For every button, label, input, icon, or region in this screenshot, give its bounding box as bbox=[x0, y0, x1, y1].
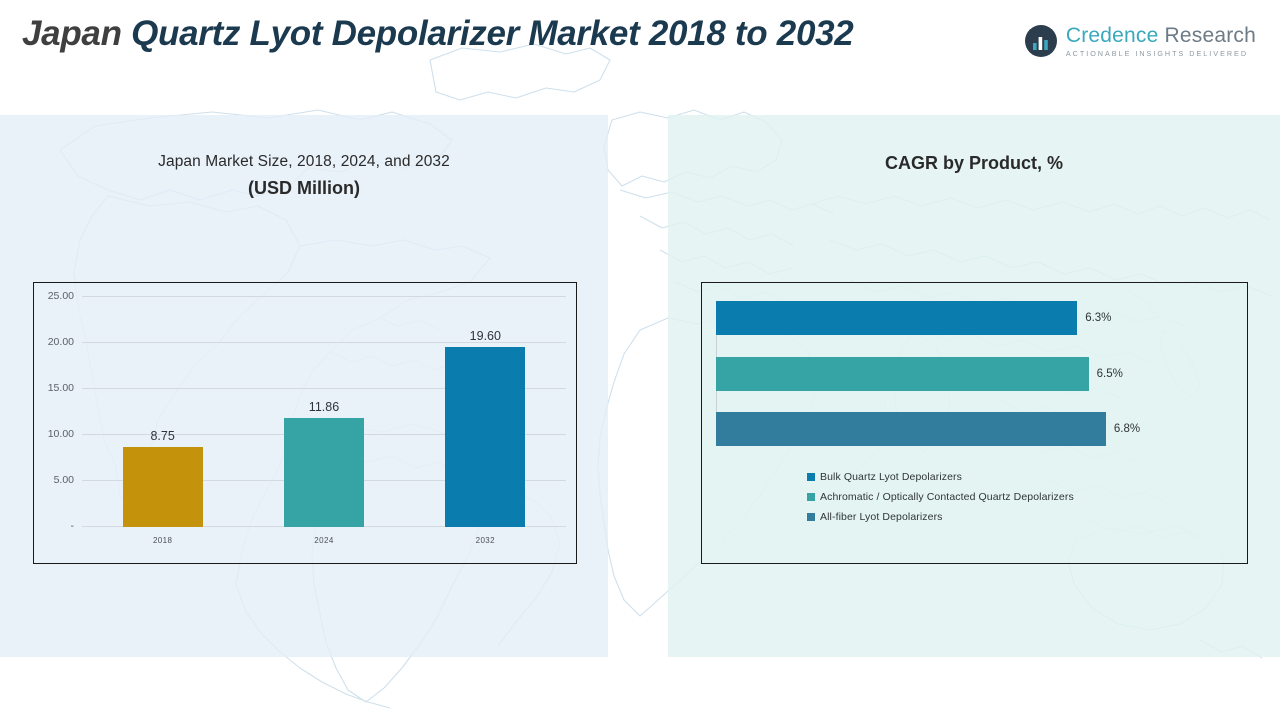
legend-item[interactable]: Bulk Quartz Lyot Depolarizers bbox=[807, 471, 1074, 483]
cagr-bar-row: 6.8% bbox=[716, 412, 1235, 446]
bar-chart-circle-icon bbox=[1024, 24, 1058, 58]
cagr-bar[interactable] bbox=[716, 301, 1077, 335]
y-axis-tick-label: 15.00 bbox=[48, 382, 74, 394]
market-size-heading-line1: Japan Market Size, 2018, 2024, and 2032 bbox=[0, 153, 608, 171]
cagr-bar-row: 6.3% bbox=[716, 301, 1235, 335]
x-axis-category-label: 2024 bbox=[314, 536, 333, 545]
column-bar[interactable] bbox=[445, 347, 525, 527]
y-axis-tick-label: 5.00 bbox=[54, 474, 74, 486]
logo-name-secondary: Research bbox=[1158, 24, 1256, 47]
cagr-panel: CAGR by Product, % 6.3%6.5%6.8% Bulk Qua… bbox=[668, 115, 1280, 657]
y-axis-tick-label: 25.00 bbox=[48, 290, 74, 302]
market-size-heading-line2: (USD Million) bbox=[0, 178, 608, 199]
legend-item-label: Bulk Quartz Lyot Depolarizers bbox=[820, 471, 962, 483]
legend-item[interactable]: All-fiber Lyot Depolarizers bbox=[807, 511, 1074, 523]
cagr-chart-legend: Bulk Quartz Lyot DepolarizersAchromatic … bbox=[807, 471, 1074, 531]
cagr-bar-value-label: 6.3% bbox=[1085, 312, 1111, 324]
column-bar-group: 19.602032 bbox=[445, 297, 525, 527]
brand-logo[interactable]: Credence Research Actionable Insights De… bbox=[1024, 24, 1256, 58]
column-bar-value-label: 8.75 bbox=[150, 429, 174, 443]
logo-name: Credence Research bbox=[1066, 25, 1256, 46]
page-title: Japan Quartz Lyot Depolarizer Market 201… bbox=[22, 14, 853, 54]
logo-name-primary: Credence bbox=[1066, 24, 1159, 47]
cagr-chart-bars: 6.3%6.5%6.8% bbox=[716, 301, 1235, 446]
y-axis-tick-label: 10.00 bbox=[48, 428, 74, 440]
column-bar[interactable] bbox=[123, 447, 203, 528]
column-chart-bars: 8.75201811.86202419.602032 bbox=[82, 297, 566, 527]
cagr-bar-value-label: 6.8% bbox=[1114, 423, 1140, 435]
market-size-panel: Japan Market Size, 2018, 2024, and 2032 … bbox=[0, 115, 608, 657]
market-size-column-chart: -5.0010.0015.0020.0025.00 8.75201811.862… bbox=[33, 282, 577, 564]
x-axis-category-label: 2018 bbox=[153, 536, 172, 545]
column-bar-group: 11.862024 bbox=[284, 297, 364, 527]
legend-item[interactable]: Achromatic / Optically Contacted Quartz … bbox=[807, 491, 1074, 503]
cagr-bar-row: 6.5% bbox=[716, 357, 1235, 391]
legend-item-label: Achromatic / Optically Contacted Quartz … bbox=[820, 491, 1074, 503]
y-axis-tick-label: - bbox=[71, 520, 75, 532]
x-axis-category-label: 2032 bbox=[476, 536, 495, 545]
logo-tagline: Actionable Insights Delivered bbox=[1066, 50, 1256, 57]
page-title-rest: Quartz Lyot Depolarizer Market 2018 to 2… bbox=[122, 14, 854, 53]
column-bar-value-label: 19.60 bbox=[470, 329, 501, 343]
legend-swatch-icon bbox=[807, 513, 815, 521]
cagr-bar-value-label: 6.5% bbox=[1097, 368, 1123, 380]
legend-swatch-icon bbox=[807, 473, 815, 481]
column-bar-value-label: 11.86 bbox=[309, 400, 339, 414]
cagr-bar[interactable] bbox=[716, 357, 1089, 391]
column-bar-group: 8.752018 bbox=[123, 297, 203, 527]
legend-swatch-icon bbox=[807, 493, 815, 501]
y-axis-tick-label: 20.00 bbox=[48, 336, 74, 348]
cagr-heading: CAGR by Product, % bbox=[668, 153, 1280, 174]
cagr-bar-chart: 6.3%6.5%6.8% Bulk Quartz Lyot Depolarize… bbox=[701, 282, 1248, 564]
header: Japan Quartz Lyot Depolarizer Market 201… bbox=[0, 0, 1280, 86]
page-title-region: Japan bbox=[22, 14, 122, 53]
cagr-bar[interactable] bbox=[716, 412, 1106, 446]
column-bar[interactable] bbox=[284, 418, 364, 527]
legend-item-label: All-fiber Lyot Depolarizers bbox=[820, 511, 943, 523]
